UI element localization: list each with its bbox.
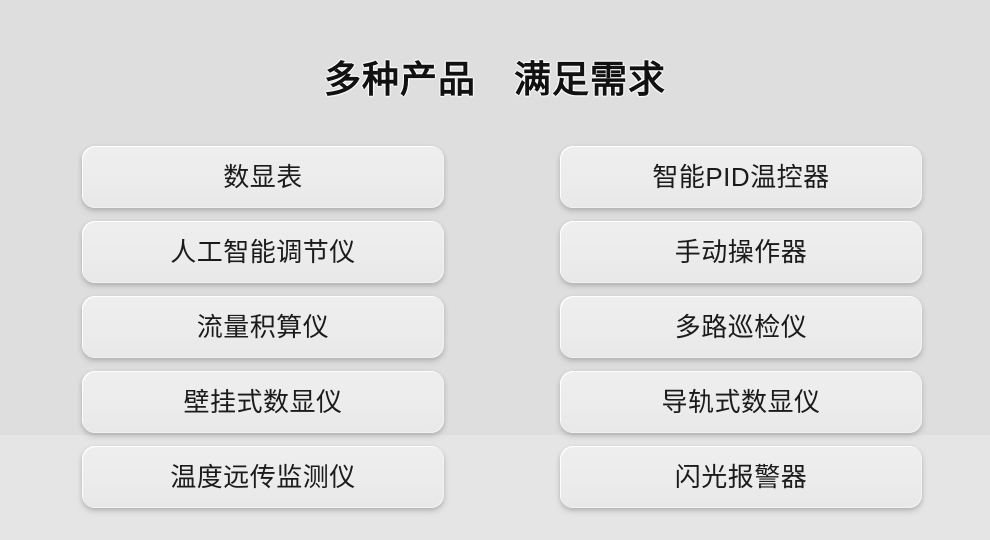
product-card-label: 温度远传监测仪 [170,462,356,492]
product-card[interactable]: 导轨式数显仪 [560,371,922,433]
product-card-label: 壁挂式数显仪 [183,387,342,417]
product-card-label: 数显表 [223,162,303,192]
product-card-label: 智能PID温控器 [652,162,829,192]
product-card[interactable]: 多路巡检仪 [560,296,922,358]
product-card[interactable]: 人工智能调节仪 [82,221,444,283]
product-card[interactable]: 壁挂式数显仪 [82,371,444,433]
product-card-label: 手动操作器 [675,237,808,267]
product-card[interactable]: 闪光报警器 [560,446,922,508]
product-card-label: 多路巡检仪 [675,312,808,342]
slide-canvas: 多种产品 满足需求 数显表 智能PID温控器 人工智能调节仪 手动操作器 流量积… [0,0,990,540]
product-card[interactable]: 温度远传监测仪 [82,446,444,508]
slide-content: 多种产品 满足需求 数显表 智能PID温控器 人工智能调节仪 手动操作器 流量积… [0,0,990,540]
product-card[interactable]: 智能PID温控器 [560,146,922,208]
page-title: 多种产品 满足需求 [0,56,990,104]
product-card[interactable]: 数显表 [82,146,444,208]
product-card-label: 流量积算仪 [197,312,330,342]
product-card-label: 导轨式数显仪 [661,387,820,417]
product-card-grid: 数显表 智能PID温控器 人工智能调节仪 手动操作器 流量积算仪 多路巡检仪 壁… [82,146,922,508]
product-card[interactable]: 手动操作器 [560,221,922,283]
product-card-label: 闪光报警器 [675,462,808,492]
product-card-label: 人工智能调节仪 [170,237,356,267]
product-card[interactable]: 流量积算仪 [82,296,444,358]
